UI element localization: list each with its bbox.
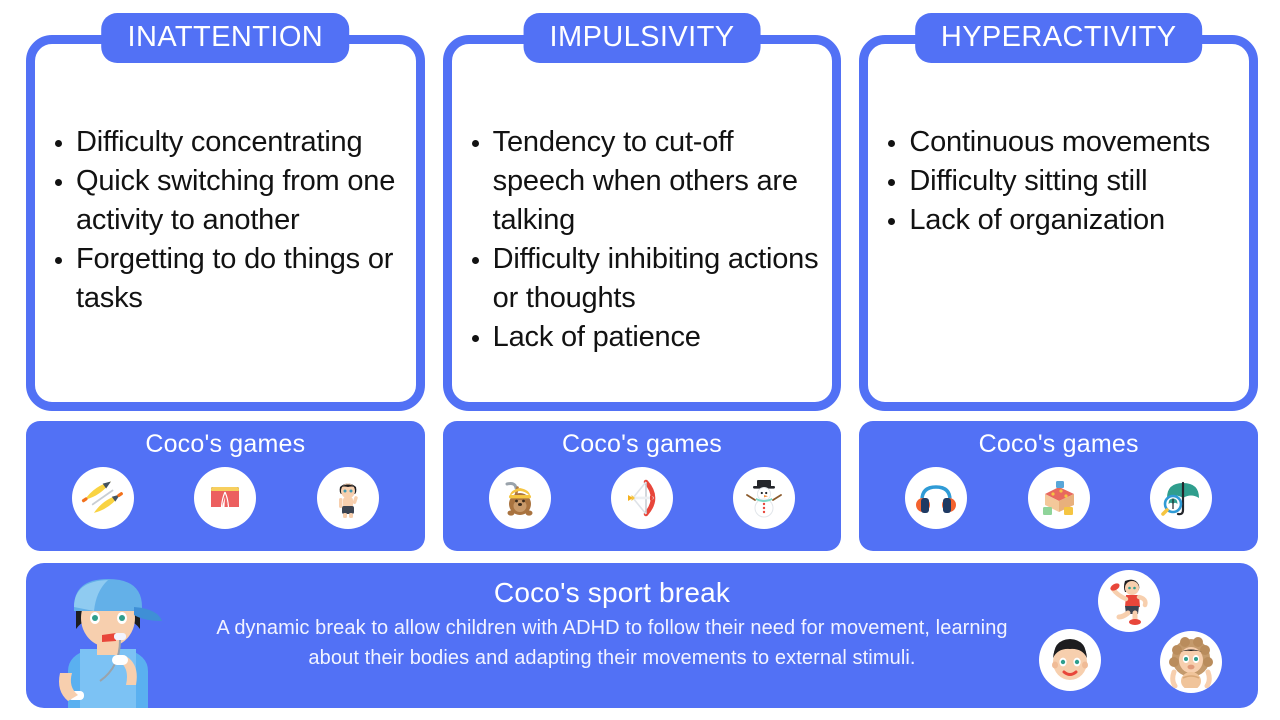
umbrella-magnifier-icon[interactable] xyxy=(1150,467,1212,529)
mole-with-pickaxe-icon[interactable] xyxy=(489,467,551,529)
list-item: Difficulty sitting still xyxy=(879,162,1246,201)
boy-in-swim-trunks-icon[interactable] xyxy=(317,467,379,529)
banner-title: Coco's sport break xyxy=(201,575,1023,611)
games-band-inattention: Coco's games xyxy=(26,421,425,551)
list-item: Forgetting to do things or tasks xyxy=(46,240,413,318)
games-band-title: Coco's games xyxy=(443,427,842,461)
card-title-hyperactivity: HYPERACTIVITY xyxy=(915,13,1203,63)
adhd-infographic-poster: INATTENTION Difficulty concentrating Qui… xyxy=(0,0,1280,720)
headphones-icon[interactable] xyxy=(905,467,967,529)
games-bands-row: Coco's games xyxy=(26,421,1258,551)
games-band-title: Coco's games xyxy=(26,427,425,461)
boy-face-icon[interactable] xyxy=(1039,629,1101,691)
list-item: Lack of organization xyxy=(879,201,1246,240)
bullet-list: Difficulty concentrating Quick switching… xyxy=(46,123,413,318)
bullet-list: Tendency to cut-off speech when others a… xyxy=(463,123,830,357)
bow-and-arrow-icon[interactable] xyxy=(611,467,673,529)
boy-stretching-icon[interactable] xyxy=(1098,570,1160,632)
snowman-icon[interactable] xyxy=(733,467,795,529)
banner-avatar-group xyxy=(1021,563,1246,708)
symptom-card-hyperactivity: HYPERACTIVITY Continuous movements Diffi… xyxy=(859,13,1258,411)
card-body-impulsivity: Tendency to cut-off speech when others a… xyxy=(463,123,830,357)
bullet-list: Continuous movements Difficulty sitting … xyxy=(879,123,1246,240)
games-band-impulsivity: Coco's games xyxy=(443,421,842,551)
list-item: Difficulty inhibiting actions or thought… xyxy=(463,240,830,318)
card-body-hyperactivity: Continuous movements Difficulty sitting … xyxy=(879,123,1246,240)
symptom-card-inattention: INATTENTION Difficulty concentrating Qui… xyxy=(26,13,425,411)
games-icon-list xyxy=(26,467,425,529)
card-title-impulsivity: IMPULSIVITY xyxy=(524,13,761,63)
banner-text-block: Coco's sport break A dynamic break to al… xyxy=(201,575,1023,673)
list-item: Quick switching from one activity to ano… xyxy=(46,162,413,240)
symptom-cards-row: INATTENTION Difficulty concentrating Qui… xyxy=(26,13,1258,411)
games-icon-list xyxy=(443,467,842,529)
list-item: Tendency to cut-off speech when others a… xyxy=(463,123,830,240)
toy-blocks-box-icon[interactable] xyxy=(1028,467,1090,529)
sport-break-banner: Coco's sport break A dynamic break to al… xyxy=(26,563,1258,708)
banner-description: A dynamic break to allow children with A… xyxy=(201,613,1023,673)
card-title-inattention: INATTENTION xyxy=(102,13,350,63)
child-in-lion-costume-icon[interactable] xyxy=(1160,631,1222,693)
games-band-hyperactivity: Coco's games xyxy=(859,421,1258,551)
games-band-title: Coco's games xyxy=(859,427,1258,461)
kayak-icon[interactable] xyxy=(72,467,134,529)
symptom-card-impulsivity: IMPULSIVITY Tendency to cut-off speech w… xyxy=(443,13,842,411)
coach-with-whistle-icon xyxy=(40,563,175,708)
swim-shorts-icon[interactable] xyxy=(194,467,256,529)
list-item: Continuous movements xyxy=(879,123,1246,162)
list-item: Difficulty concentrating xyxy=(46,123,413,162)
list-item: Lack of patience xyxy=(463,318,830,357)
card-body-inattention: Difficulty concentrating Quick switching… xyxy=(46,123,413,318)
games-icon-list xyxy=(859,467,1258,529)
